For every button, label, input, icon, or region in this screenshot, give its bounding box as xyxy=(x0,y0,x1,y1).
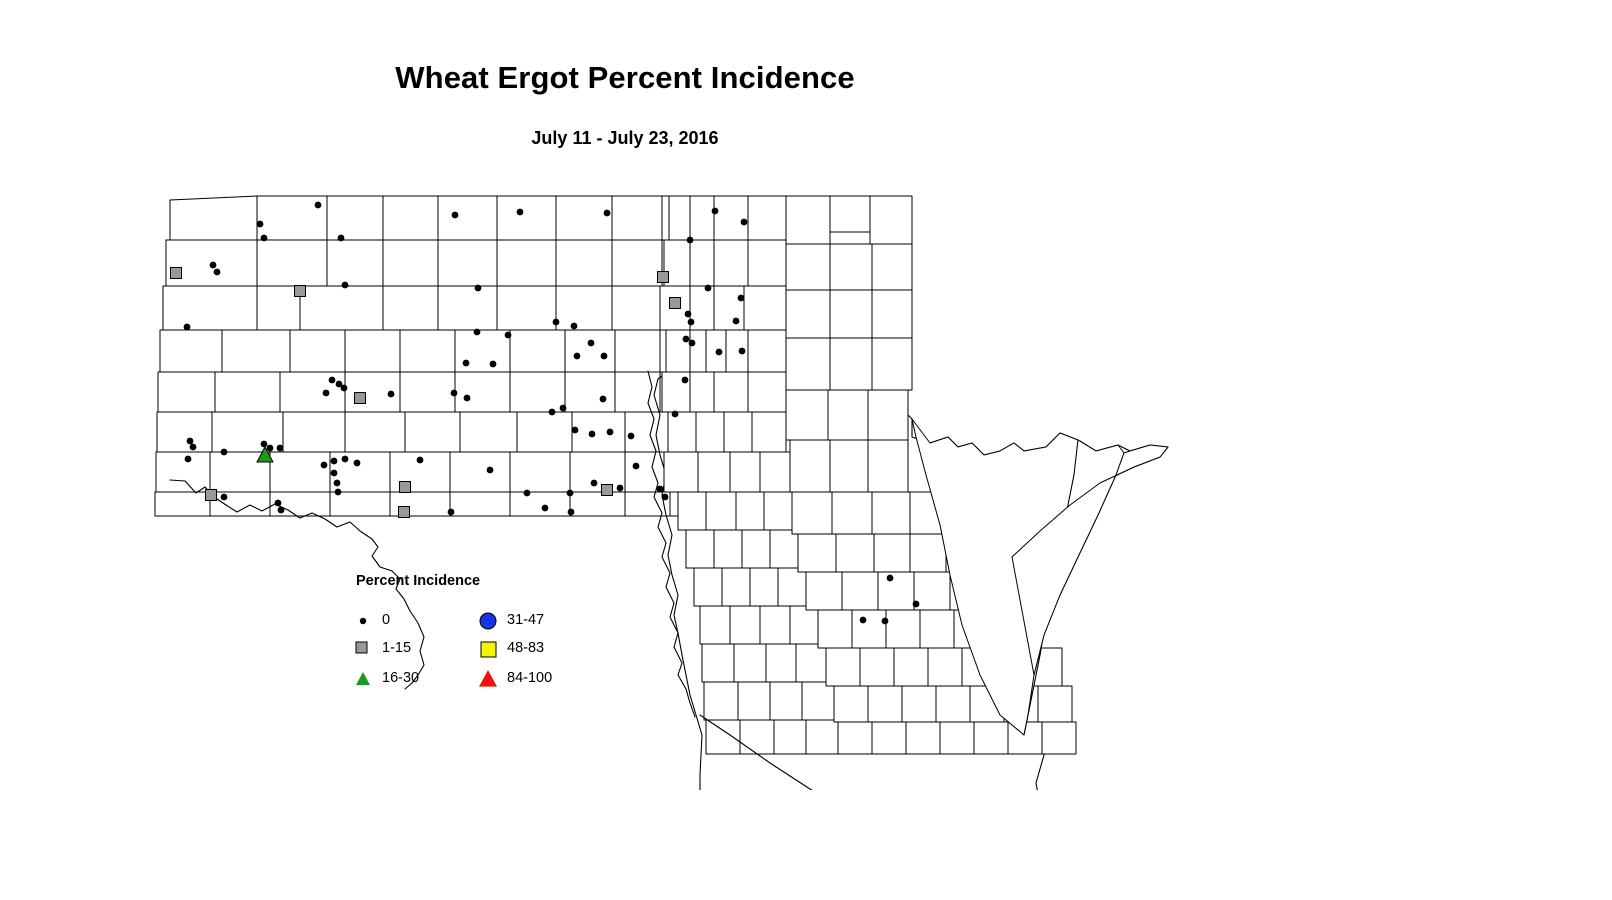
county xyxy=(872,290,912,338)
county xyxy=(836,534,874,572)
map-point-0 xyxy=(261,441,268,448)
county xyxy=(828,390,868,440)
map-point-0 xyxy=(687,237,694,244)
map-point-1-15 xyxy=(355,393,366,404)
county xyxy=(405,412,460,452)
county xyxy=(510,330,565,372)
county xyxy=(760,606,790,644)
map-point-0 xyxy=(689,340,696,347)
map-point-0 xyxy=(214,269,221,276)
county xyxy=(700,606,730,644)
county xyxy=(438,240,497,286)
county xyxy=(698,452,730,492)
county xyxy=(497,286,556,330)
map-point-0 xyxy=(601,353,608,360)
county xyxy=(894,648,928,686)
county xyxy=(760,452,790,492)
county xyxy=(752,412,786,452)
map-point-0 xyxy=(505,332,512,339)
county xyxy=(690,330,706,372)
map-point-0 xyxy=(187,438,194,445)
map-point-0 xyxy=(323,390,330,397)
legend-symbol-triangle xyxy=(477,666,503,692)
map-point-0 xyxy=(490,361,497,368)
county xyxy=(686,530,714,568)
county xyxy=(696,412,724,452)
county xyxy=(455,372,510,412)
county xyxy=(170,196,257,240)
map-point-0 xyxy=(221,494,228,501)
map-point-0 xyxy=(860,617,867,624)
map-point-0 xyxy=(335,489,342,496)
county xyxy=(702,644,734,682)
legend-symbol-circle xyxy=(477,608,503,634)
map-point-0 xyxy=(662,494,669,501)
map-point-0 xyxy=(560,405,567,412)
county xyxy=(750,568,778,606)
map-point-0 xyxy=(604,210,611,217)
county-map xyxy=(0,175,1250,790)
map-point-0 xyxy=(589,431,596,438)
map-point-0 xyxy=(417,457,424,464)
map-point-0 xyxy=(716,349,723,356)
county xyxy=(734,644,766,682)
map-point-0 xyxy=(261,235,268,242)
county xyxy=(1038,686,1072,722)
county xyxy=(920,610,954,648)
county xyxy=(669,196,690,240)
county xyxy=(690,372,714,412)
county xyxy=(327,196,383,240)
county xyxy=(852,610,886,648)
map-point-0 xyxy=(739,348,746,355)
county xyxy=(748,372,786,412)
map-point-1-15 xyxy=(399,507,410,518)
map-point-0 xyxy=(633,463,640,470)
map-point-0 xyxy=(474,329,481,336)
county-polygons xyxy=(155,196,1168,790)
legend-label: 16-30 xyxy=(382,670,419,686)
county xyxy=(706,492,736,530)
map-point-0 xyxy=(588,340,595,347)
county xyxy=(517,412,572,452)
county xyxy=(706,720,740,754)
legend-symbol-square xyxy=(477,636,503,662)
county xyxy=(830,440,868,492)
county xyxy=(860,648,894,686)
map-point-0 xyxy=(591,480,598,487)
county xyxy=(714,286,744,330)
map-point-0 xyxy=(549,409,556,416)
legend: Percent Incidence 01-1516-3031-4748-8384… xyxy=(352,570,632,695)
county xyxy=(678,492,706,530)
county xyxy=(215,372,280,412)
county xyxy=(704,682,738,720)
county xyxy=(868,440,908,492)
county xyxy=(786,338,830,390)
county xyxy=(510,372,565,412)
map-point-0 xyxy=(257,221,264,228)
legend-symbol-small-dot xyxy=(352,608,378,634)
map-point-0 xyxy=(342,282,349,289)
map-point-0 xyxy=(278,507,285,514)
map-point-0 xyxy=(712,208,719,215)
county xyxy=(160,330,222,372)
county xyxy=(770,530,798,568)
county xyxy=(886,610,920,648)
county xyxy=(748,330,786,372)
map-point-0 xyxy=(331,470,338,477)
county xyxy=(714,530,742,568)
county xyxy=(872,492,910,534)
map-point-0 xyxy=(321,462,328,469)
county xyxy=(690,196,714,240)
map-point-0 xyxy=(388,391,395,398)
map-point-0 xyxy=(683,336,690,343)
page-title: Wheat Ergot Percent Incidence xyxy=(0,60,1250,96)
county xyxy=(345,412,405,452)
county xyxy=(940,722,974,754)
county xyxy=(806,720,838,754)
county xyxy=(158,372,215,412)
county xyxy=(872,244,912,290)
county xyxy=(740,720,774,754)
map-point-1-15 xyxy=(295,286,306,297)
county xyxy=(744,286,786,330)
county xyxy=(742,530,770,568)
county xyxy=(612,196,662,240)
map-point-0 xyxy=(688,319,695,326)
map-point-1-15 xyxy=(206,490,217,501)
county xyxy=(1042,722,1076,754)
county xyxy=(400,330,455,372)
legend-label: 1-15 xyxy=(382,640,411,656)
county xyxy=(157,412,212,452)
county xyxy=(738,682,770,720)
county xyxy=(383,196,438,240)
county xyxy=(615,372,660,412)
county xyxy=(327,240,383,286)
county xyxy=(798,534,836,572)
county xyxy=(748,240,786,286)
county xyxy=(625,412,668,452)
county xyxy=(874,534,910,572)
county xyxy=(714,372,748,412)
county xyxy=(257,240,327,286)
county xyxy=(383,286,438,330)
county xyxy=(790,440,830,492)
map-point-1-15 xyxy=(670,298,681,309)
map-point-0 xyxy=(887,575,894,582)
county xyxy=(834,686,868,722)
map-point-0 xyxy=(524,490,531,497)
map-point-0 xyxy=(275,500,282,507)
map-point-0 xyxy=(738,295,745,302)
county xyxy=(736,492,764,530)
map-point-0 xyxy=(733,318,740,325)
county xyxy=(914,572,950,610)
county xyxy=(902,686,936,722)
county xyxy=(936,686,970,722)
map-point-0 xyxy=(553,319,560,326)
map-point-1-15 xyxy=(400,482,411,493)
county xyxy=(830,244,872,290)
county xyxy=(345,330,400,372)
county xyxy=(872,722,906,754)
county xyxy=(714,196,748,240)
county xyxy=(438,196,497,240)
county xyxy=(818,610,852,648)
map-point-0 xyxy=(315,202,322,209)
county xyxy=(556,286,612,330)
county xyxy=(155,492,210,516)
map-point-0 xyxy=(571,323,578,330)
county xyxy=(786,390,828,440)
map-point-0 xyxy=(475,285,482,292)
legend-label: 0 xyxy=(382,612,390,628)
county xyxy=(826,648,860,686)
county xyxy=(906,722,940,754)
map-point-0 xyxy=(682,377,689,384)
county xyxy=(497,240,556,286)
map-canvas xyxy=(0,175,1250,790)
county xyxy=(868,686,902,722)
map-point-0 xyxy=(741,219,748,226)
county xyxy=(786,244,830,290)
map-point-0 xyxy=(574,353,581,360)
map-point-0 xyxy=(185,456,192,463)
county xyxy=(565,330,615,372)
county xyxy=(870,196,912,244)
map-point-1-15 xyxy=(171,268,182,279)
map-point-0 xyxy=(882,618,889,625)
map-point-0 xyxy=(342,456,349,463)
county xyxy=(792,492,832,534)
map-point-0 xyxy=(210,262,217,269)
county xyxy=(786,290,830,338)
county xyxy=(790,606,818,644)
county xyxy=(778,568,806,606)
map-point-0 xyxy=(448,509,455,516)
county xyxy=(830,338,872,390)
map-point-0 xyxy=(672,411,679,418)
map-point-0 xyxy=(354,460,361,467)
county xyxy=(510,452,570,492)
county xyxy=(928,648,962,686)
county xyxy=(842,572,878,610)
county xyxy=(838,722,872,754)
map-figure: Wheat Ergot Percent Incidence July 11 - … xyxy=(0,0,1612,900)
map-point-0 xyxy=(341,385,348,392)
county xyxy=(556,196,612,240)
county xyxy=(730,452,760,492)
county xyxy=(300,286,383,330)
county xyxy=(796,644,826,682)
county xyxy=(872,338,912,390)
county xyxy=(450,492,510,516)
legend-label: 84-100 xyxy=(507,670,552,686)
map-point-0 xyxy=(542,505,549,512)
map-point-0 xyxy=(331,458,338,465)
map-point-0 xyxy=(657,486,664,493)
county xyxy=(730,606,760,644)
county xyxy=(510,492,570,516)
county xyxy=(330,492,390,516)
county xyxy=(830,290,872,338)
county xyxy=(400,372,455,412)
map-point-0 xyxy=(329,377,336,384)
county xyxy=(878,572,914,610)
map-point-0 xyxy=(685,311,692,318)
map-point-0 xyxy=(463,360,470,367)
county xyxy=(222,330,290,372)
county xyxy=(748,196,786,240)
county xyxy=(280,372,345,412)
map-point-1-15 xyxy=(602,485,613,496)
county xyxy=(455,330,510,372)
county xyxy=(163,286,257,330)
legend-symbol-square xyxy=(352,636,378,662)
county xyxy=(615,330,660,372)
map-point-0 xyxy=(338,235,345,242)
county xyxy=(724,412,752,452)
map-point-0 xyxy=(267,445,274,452)
county xyxy=(330,452,390,492)
map-point-0 xyxy=(452,212,459,219)
county xyxy=(774,720,806,754)
county xyxy=(570,452,625,492)
county xyxy=(290,330,345,372)
county xyxy=(270,452,330,492)
county xyxy=(572,412,625,452)
county xyxy=(210,492,270,516)
county xyxy=(565,372,615,412)
map-point-0 xyxy=(451,390,458,397)
county xyxy=(383,240,438,286)
map-point-0 xyxy=(705,285,712,292)
county xyxy=(694,568,722,606)
page-subtitle: July 11 - July 23, 2016 xyxy=(0,128,1250,149)
county xyxy=(764,492,792,530)
county xyxy=(770,682,802,720)
county xyxy=(974,722,1008,754)
map-point-0 xyxy=(184,324,191,331)
county xyxy=(283,412,345,452)
map-point-0 xyxy=(190,444,197,451)
county xyxy=(450,452,510,492)
county xyxy=(156,452,210,492)
county xyxy=(570,492,625,516)
county xyxy=(786,196,830,244)
county xyxy=(668,412,696,452)
county xyxy=(830,196,870,232)
map-point-0 xyxy=(617,485,624,492)
map-point-0 xyxy=(568,509,575,516)
map-point-0 xyxy=(600,396,607,403)
county xyxy=(612,286,662,330)
map-point-0 xyxy=(913,601,920,608)
county xyxy=(497,196,556,240)
county xyxy=(460,412,517,452)
county xyxy=(556,240,612,286)
map-point-0 xyxy=(628,433,635,440)
county xyxy=(438,286,497,330)
county xyxy=(664,452,698,492)
map-point-0 xyxy=(221,449,228,456)
county xyxy=(690,240,714,286)
county xyxy=(612,240,662,286)
county xyxy=(257,286,300,330)
county xyxy=(806,572,842,610)
legend-label: 31-47 xyxy=(507,612,544,628)
county xyxy=(832,492,872,534)
map-point-0 xyxy=(567,490,574,497)
map-point-0 xyxy=(277,445,284,452)
county xyxy=(766,644,796,682)
legend-title: Percent Incidence xyxy=(356,573,480,589)
map-point-0 xyxy=(517,209,524,216)
county xyxy=(802,682,834,720)
county xyxy=(910,534,946,572)
map-point-0 xyxy=(464,395,471,402)
county xyxy=(868,390,908,440)
county xyxy=(722,568,750,606)
map-point-0 xyxy=(607,429,614,436)
map-point-0 xyxy=(334,480,341,487)
map-point-0 xyxy=(487,467,494,474)
map-point-1-15 xyxy=(658,272,669,283)
legend-label: 48-83 xyxy=(507,640,544,656)
legend-symbol-triangle xyxy=(352,666,378,692)
map-point-0 xyxy=(572,427,579,434)
county xyxy=(714,240,748,286)
